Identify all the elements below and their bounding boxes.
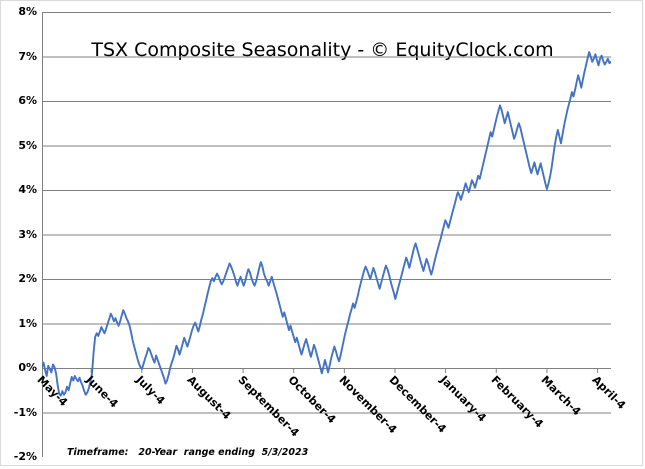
x-tick-label: January-4 [438, 374, 488, 424]
x-tick-label: May-4 [35, 374, 69, 408]
x-tick-label: August-4 [185, 374, 232, 421]
x-tick-label: July-4 [135, 374, 168, 407]
x-tick-label: June-4 [84, 374, 120, 410]
x-tick-label: April-4 [590, 374, 627, 411]
x-tick-label: March-4 [540, 374, 583, 417]
x-tick-label: October-4 [286, 374, 337, 425]
x-axis: May-4June-4July-4August-4September-4Octo… [1, 1, 645, 469]
chart-container: TSX Composite Seasonality - © EquityCloc… [0, 0, 643, 466]
x-tick-label: February-4 [489, 374, 545, 430]
timeframe-annotation: Timeframe: 20-Year range ending 5/3/2023 [67, 447, 308, 458]
